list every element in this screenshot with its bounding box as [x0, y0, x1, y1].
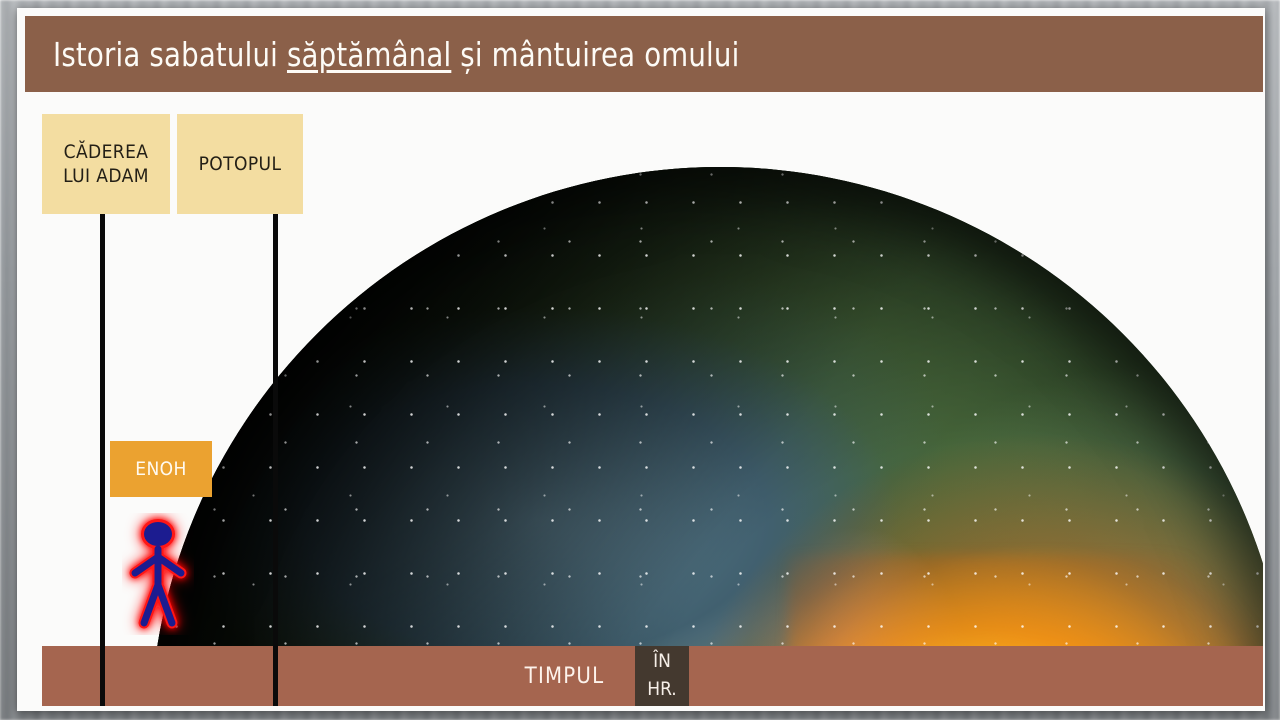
person-glow-group [135, 519, 181, 623]
event-card-text: POTOPUL [199, 152, 282, 176]
event-label-line2: LUI ADAM [63, 165, 149, 187]
title-suffix: și mântuirea omului [451, 35, 739, 74]
era-marker-badge: ÎN HR. [635, 646, 689, 706]
person-figure-svg [122, 513, 194, 635]
event-card-fall-of-adam[interactable]: CĂDEREALUI ADAM [42, 114, 170, 214]
event-card-text: CĂDEREALUI ADAM [63, 140, 149, 189]
event-label-line1: CĂDEREA [64, 141, 149, 163]
timeline-axis-label: TIMPUL [17, 646, 1175, 706]
era-marker-line2: HR. [647, 676, 676, 704]
event-card-flood[interactable]: POTOPUL [177, 114, 303, 214]
event-card-text: ENOH [135, 457, 187, 481]
enoch-person-icon [122, 513, 194, 635]
timeline-marker-fall-of-adam [100, 213, 105, 706]
event-card-enoch[interactable]: ENOH [110, 441, 212, 497]
slide-title-bar: Istoria sabatului săptămânal și mântuire… [25, 16, 1263, 92]
earth-globe-image [150, 167, 1263, 703]
timeline-marker-flood [273, 213, 278, 706]
title-prefix: Istoria sabatului [53, 35, 287, 74]
presentation-slide: Istoria sabatului săptămânal și mântuire… [17, 8, 1265, 711]
page-title: Istoria sabatului săptămânal și mântuire… [53, 35, 739, 74]
era-marker-line1: ÎN [653, 648, 671, 676]
title-underlined-word: săptămânal [287, 35, 451, 74]
